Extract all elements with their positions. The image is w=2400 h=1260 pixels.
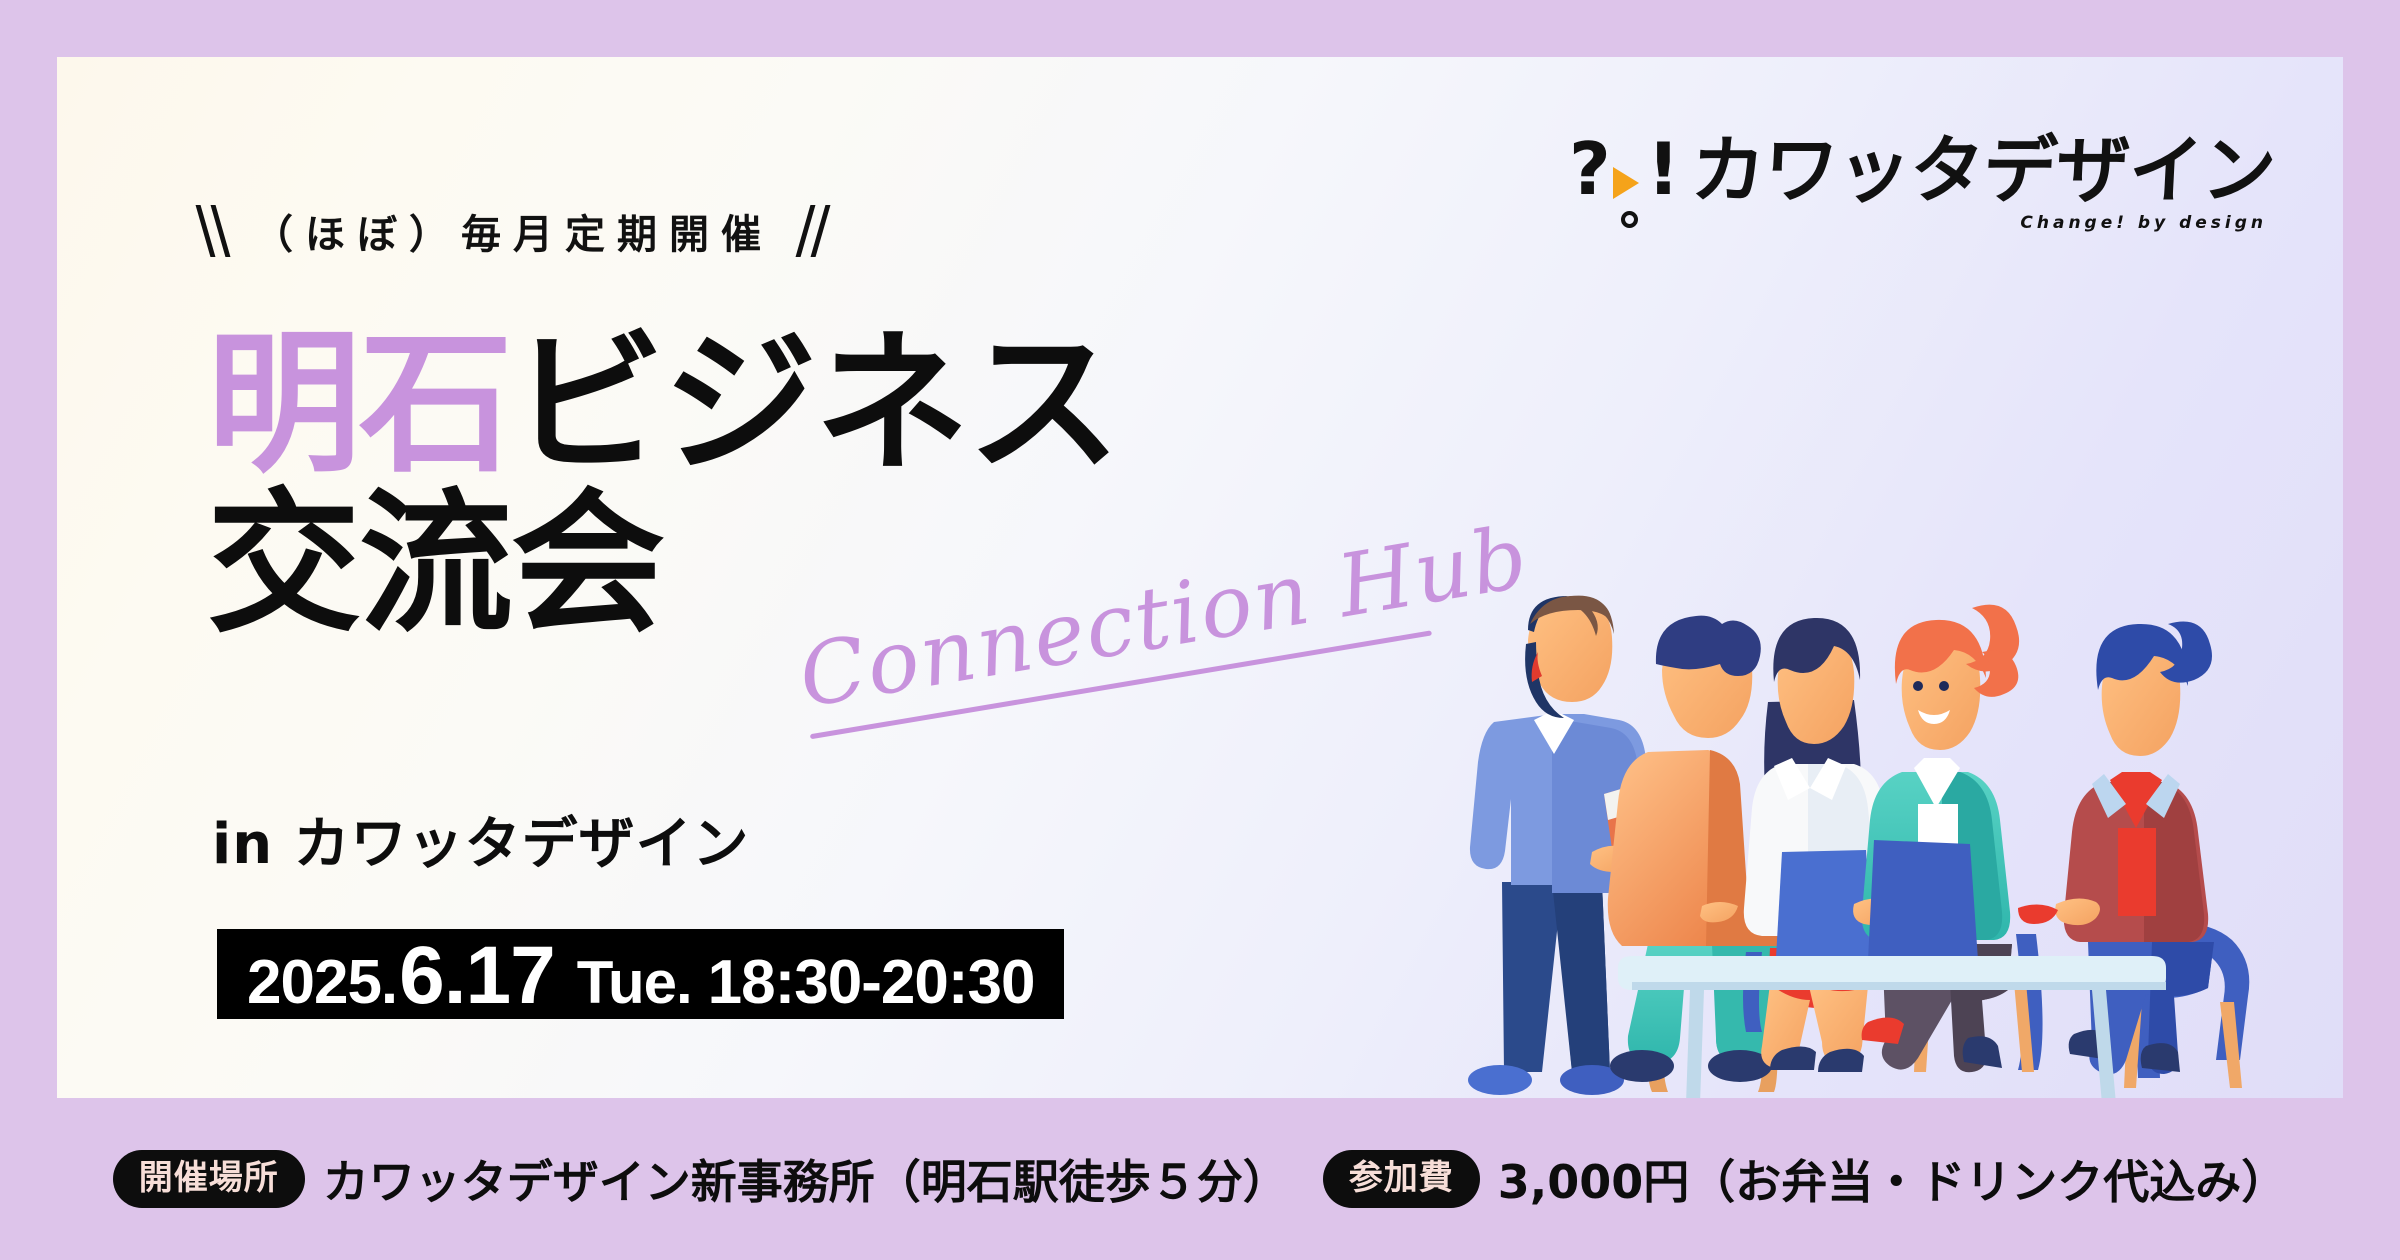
play-triangle-icon: [1613, 167, 1639, 199]
logo-mark-icon: ? !: [1569, 137, 1669, 233]
question-mark-icon: ?: [1569, 133, 1611, 205]
logo-wordmark: カワッタデザイン: [1689, 135, 2277, 208]
person-teal-cardigan: [1853, 605, 2044, 1073]
headline-accent: 明石: [207, 315, 511, 494]
fee-label-badge: 参加費: [1323, 1150, 1480, 1208]
date-year: 2025.: [247, 952, 397, 1014]
logo-tagline: Change! by design: [2020, 213, 2267, 233]
poster-card: （ほぼ）毎月定期開催 ? ! カワッタデザイン Change! by desig…: [57, 57, 2343, 1098]
footer-bar: 開催場所 カワッタデザイン新事務所（明石駅徒歩５分） 参加費 3,000円（お弁…: [0, 1098, 2400, 1260]
left-slashes-icon: [203, 205, 223, 257]
venue-label-badge: 開催場所: [113, 1150, 305, 1208]
meeting-illustration: [1452, 552, 2272, 1098]
logo-wordmark-group: カワッタデザイン Change! by design: [1691, 135, 2275, 233]
date-badge: 2025. 6.17 Tue. 18:30-20:30: [217, 929, 1064, 1019]
tagline-text: （ほぼ）毎月定期開催: [253, 202, 773, 260]
tagline-row: （ほぼ）毎月定期開催: [203, 203, 823, 259]
right-slashes-icon: [803, 205, 823, 257]
date-weekday: Tue.: [577, 953, 692, 1013]
venue-subtitle: in カワッタデザイン: [212, 799, 750, 880]
circle-dot-icon: [1621, 211, 1638, 228]
venue-value: カワッタデザイン新事務所（明石駅徒歩５分）: [323, 1146, 1289, 1212]
exclamation-mark-icon: !: [1647, 133, 1680, 205]
headline-rest: ビジネス: [511, 315, 1119, 494]
person-red-sweater: [2018, 622, 2249, 1089]
date-day: 6.17: [399, 935, 555, 1017]
fee-value: 3,000円（お弁当・ドリンク代込み）: [1498, 1146, 2288, 1212]
headline-line-1: 明石ビジネス: [207, 325, 1119, 485]
brand-logo[interactable]: ? ! カワッタデザイン Change! by design: [1569, 135, 2275, 233]
date-time: 18:30-20:30: [708, 952, 1035, 1014]
